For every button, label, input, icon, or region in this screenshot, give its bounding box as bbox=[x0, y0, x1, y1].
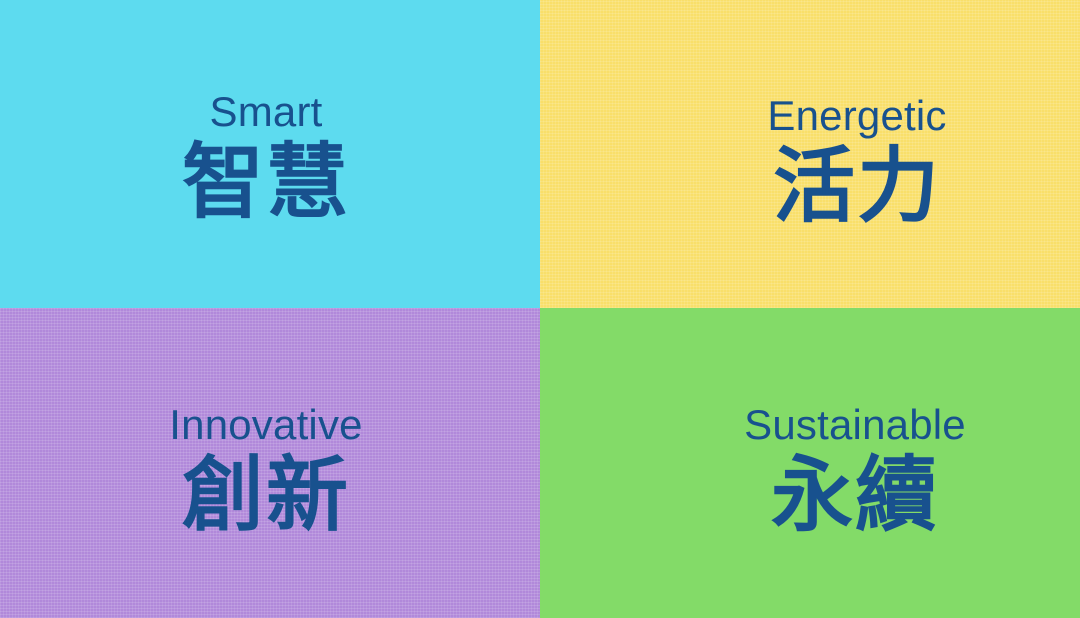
panel-energetic: Energetic 活力 bbox=[540, 0, 1080, 308]
panel-smart: Smart 智慧 bbox=[0, 0, 540, 308]
panel-smart-chinese-label: 智慧 bbox=[182, 140, 350, 227]
panel-energetic-english-label: Energetic bbox=[767, 94, 946, 138]
panel-sustainable-chinese-label: 永續 bbox=[771, 453, 939, 540]
panel-sustainable: Sustainable 永續 bbox=[540, 308, 1080, 618]
panel-smart-text-block: Smart 智慧 bbox=[182, 90, 350, 227]
panel-innovative: Innovative 創新 bbox=[0, 308, 540, 618]
panel-energetic-chinese-label: 活力 bbox=[773, 144, 941, 231]
panel-innovative-chinese-label: 創新 bbox=[182, 453, 350, 540]
panel-smart-english-label: Smart bbox=[209, 90, 322, 134]
panel-innovative-text-block: Innovative 創新 bbox=[169, 403, 362, 540]
panel-sustainable-text-block: Sustainable 永續 bbox=[744, 403, 966, 540]
panel-sustainable-english-label: Sustainable bbox=[744, 403, 966, 447]
brand-values-grid: Smart 智慧 Energetic 活力 Innovative 創新 Sust… bbox=[0, 0, 1080, 618]
panel-innovative-english-label: Innovative bbox=[169, 403, 362, 447]
panel-energetic-text-block: Energetic 活力 bbox=[767, 94, 946, 231]
